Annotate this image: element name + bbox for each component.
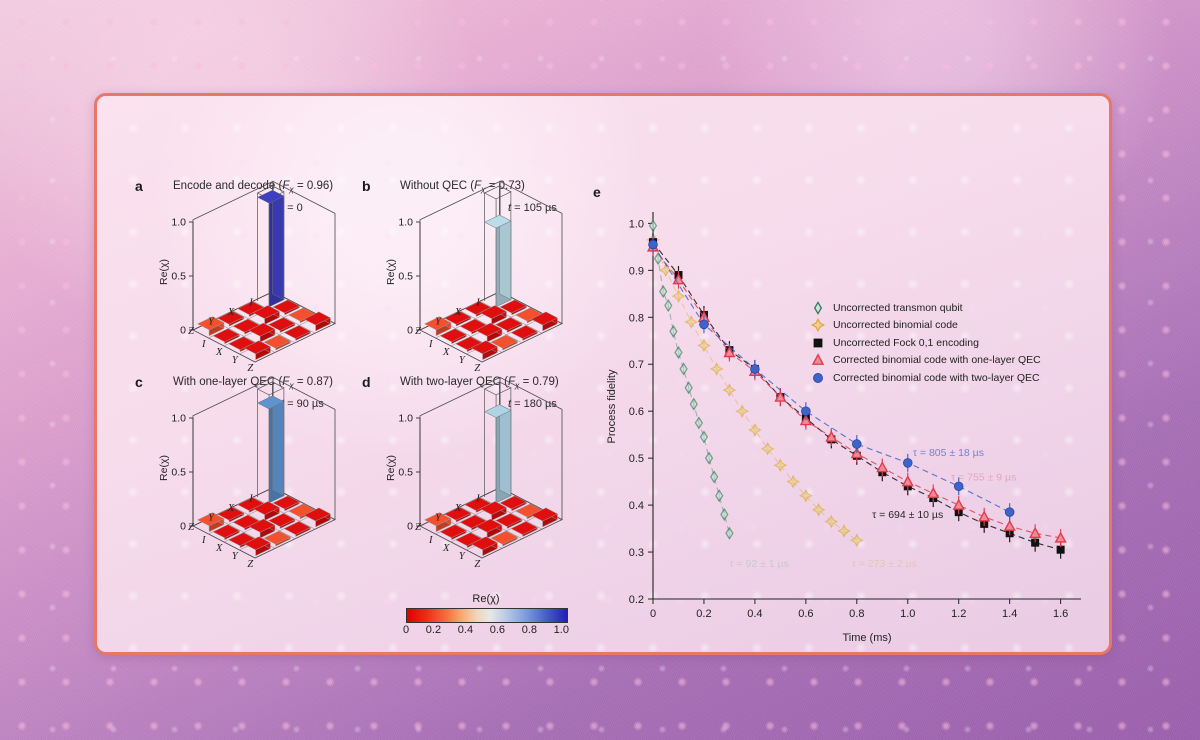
legend-item-4[interactable]: Corrected binomial code with one-layer Q…: [809, 352, 1041, 370]
chi-axis-label-left-X: X: [454, 307, 462, 318]
chi-ytick-2: 0: [407, 325, 413, 337]
chi-axis-label-right-Z: Z: [247, 363, 253, 374]
panel-e: e 0.20.30.40.50.60.70.80.91.000.20.40.60…: [593, 184, 1093, 654]
chi-ytick-2: 0: [180, 325, 186, 337]
colorbar-tick-4: 0.8: [522, 624, 537, 636]
tau-annotation-1: τ = 755 ± 9 µs: [951, 472, 1016, 484]
chi-axis-label-right-X: X: [442, 543, 450, 554]
legend-item-1[interactable]: Uncorrected transmon qubit: [809, 299, 1041, 317]
tau-annotation-4: τ = 273 ± 2 µs: [852, 558, 917, 570]
chi-axis-label-left-X: X: [454, 503, 462, 514]
chi-ytick-1: 0.5: [398, 467, 413, 479]
chi-ytick-0: 1.0: [171, 413, 186, 425]
colorbar-tick-0: 0: [403, 624, 409, 636]
process-fidelity-chart: 0.20.30.40.50.60.70.80.91.000.20.40.60.8…: [593, 184, 1093, 654]
panel-a-chi-plot: 1.00.50Re(χ)IXYZIXYZ: [135, 178, 395, 368]
x-tick-1: 0.2: [696, 608, 711, 620]
chi-axis-label-right-Z: Z: [474, 559, 480, 570]
colorbar-tick-1: 0.2: [426, 624, 441, 636]
legend-label-2: Uncorrected binomial code: [833, 319, 958, 331]
y-tick-7: 0.9: [629, 265, 644, 277]
panel-d: d With two-layer QEC (Fχ = 0.79) t = 180…: [362, 374, 622, 564]
chi-axis-label-right-Y: Y: [459, 551, 466, 562]
chi-axis-label-left-I: I: [248, 493, 253, 504]
chi-axis-label-right-X: X: [215, 543, 223, 554]
legend-label-5: Corrected binomial code with two-layer Q…: [833, 372, 1040, 384]
chi-ytick-0: 1.0: [398, 413, 413, 425]
circle-icon: [809, 371, 827, 385]
chi-axis-label-left-I: I: [248, 297, 253, 308]
chi-ytick-1: 0.5: [171, 467, 186, 479]
colorbar-tick-5: 1.0: [554, 624, 569, 636]
y-tick-3: 0.5: [629, 453, 644, 465]
y-axis-title: Process fidelity: [606, 369, 618, 443]
legend-label-1: Uncorrected transmon qubit: [833, 302, 963, 314]
colorbar-tick-2: 0.4: [458, 624, 473, 636]
chi-axis-label-right-Y: Y: [232, 551, 239, 562]
x-tick-3: 0.6: [798, 608, 813, 620]
x-tick-0: 0: [650, 608, 656, 620]
colorbar-title: Re(χ): [406, 593, 566, 605]
x-axis-title: Time (ms): [842, 632, 891, 644]
chi-ytick-2: 0: [180, 521, 186, 533]
chi-ytick-2: 0: [407, 521, 413, 533]
colorbar: Re(χ) 0 0.2 0.4 0.6 0.8 1.0: [406, 593, 566, 636]
chi-axis-label-left-Z: Z: [415, 326, 421, 337]
chi-yaxis-title: Re(χ): [385, 455, 397, 481]
panel-b: b Without QEC (Fχ = 0.73) t = 105 µs 1.0…: [362, 178, 622, 368]
colorbar-tick-3: 0.6: [490, 624, 505, 636]
chi-ytick-1: 0.5: [398, 271, 413, 283]
panel-c: c With one-layer QEC (Fχ = 0.87) t = 90 …: [135, 374, 395, 564]
chi-ytick-0: 1.0: [171, 217, 186, 229]
legend-label-3: Uncorrected Fock 0,1 encoding: [833, 337, 979, 349]
x-tick-6: 1.2: [951, 608, 966, 620]
legend-item-3[interactable]: Uncorrected Fock 0,1 encoding: [809, 334, 1041, 352]
y-tick-1: 0.3: [629, 547, 644, 559]
star4-icon: [809, 318, 827, 332]
square-icon: [809, 336, 827, 350]
x-tick-8: 1.6: [1053, 608, 1068, 620]
chi-ytick-0: 1.0: [398, 217, 413, 229]
tau-annotation-3: τ = 92 ± 1 µs: [729, 558, 788, 570]
chi-axis-label-left-Z: Z: [188, 326, 194, 337]
series-3: [649, 233, 1065, 559]
chi-yaxis-title: Re(χ): [158, 259, 170, 285]
chi-axis-label-left-X: X: [227, 503, 235, 514]
series-4: [648, 238, 1065, 547]
chi-axis-label-right-I: I: [428, 339, 433, 350]
chi-axis-label-right-Y: Y: [459, 355, 466, 366]
chi-axis-label-right-X: X: [215, 347, 223, 358]
diamond-open-icon: [809, 301, 827, 315]
chi-axis-label-right-I: I: [201, 535, 206, 546]
chi-axis-label-left-I: I: [475, 297, 480, 308]
colorbar-gradient: [406, 608, 568, 623]
y-tick-2: 0.4: [629, 500, 644, 512]
chi-axis-label-right-Z: Z: [474, 363, 480, 374]
figure-card: a Encode and decode (Fχ = 0.96) t = 0 1.…: [94, 93, 1112, 655]
y-tick-8: 1.0: [629, 218, 644, 230]
x-tick-2: 0.4: [747, 608, 762, 620]
x-tick-4: 0.8: [849, 608, 864, 620]
x-tick-7: 1.4: [1002, 608, 1017, 620]
triangle-icon: [809, 353, 827, 367]
tau-annotation-0: τ = 805 ± 18 µs: [913, 447, 984, 459]
legend-item-2[interactable]: Uncorrected binomial code: [809, 317, 1041, 335]
legend-item-5[interactable]: Corrected binomial code with two-layer Q…: [809, 369, 1041, 387]
chi-axis-label-right-Y: Y: [232, 355, 239, 366]
chi-axis-label-right-I: I: [428, 535, 433, 546]
chi-ytick-1: 0.5: [171, 271, 186, 283]
panel-d-chi-plot: 1.00.50Re(χ)IXYZIXYZ: [362, 374, 622, 564]
chart-legend: Uncorrected transmon qubitUncorrected bi…: [809, 299, 1041, 387]
colorbar-ticks: 0 0.2 0.4 0.6 0.8 1.0: [403, 624, 569, 636]
x-tick-5: 1.0: [900, 608, 915, 620]
chi-axis-label-left-Z: Z: [415, 522, 421, 533]
chi-axis-label-left-I: I: [475, 493, 480, 504]
chi-axis-label-left-X: X: [227, 307, 235, 318]
legend-label-4: Corrected binomial code with one-layer Q…: [833, 354, 1041, 366]
chi-axis-label-right-X: X: [442, 347, 450, 358]
chi-axis-label-right-I: I: [201, 339, 206, 350]
y-tick-5: 0.7: [629, 359, 644, 371]
chi-yaxis-title: Re(χ): [158, 455, 170, 481]
y-tick-6: 0.8: [629, 312, 644, 324]
y-tick-0: 0.2: [629, 594, 644, 606]
panel-c-chi-plot: 1.00.50Re(χ)IXYZIXYZ: [135, 374, 395, 564]
tau-annotation-2: τ = 694 ± 10 µs: [872, 509, 943, 521]
chi-yaxis-title: Re(χ): [385, 259, 397, 285]
panel-a: a Encode and decode (Fχ = 0.96) t = 0 1.…: [135, 178, 395, 368]
panel-b-chi-plot: 1.00.50Re(χ)IXYZIXYZ: [362, 178, 622, 368]
series-1: [650, 220, 733, 538]
y-tick-4: 0.6: [629, 406, 644, 418]
chi-axis-label-right-Z: Z: [247, 559, 253, 570]
chi-axis-label-left-Z: Z: [188, 522, 194, 533]
